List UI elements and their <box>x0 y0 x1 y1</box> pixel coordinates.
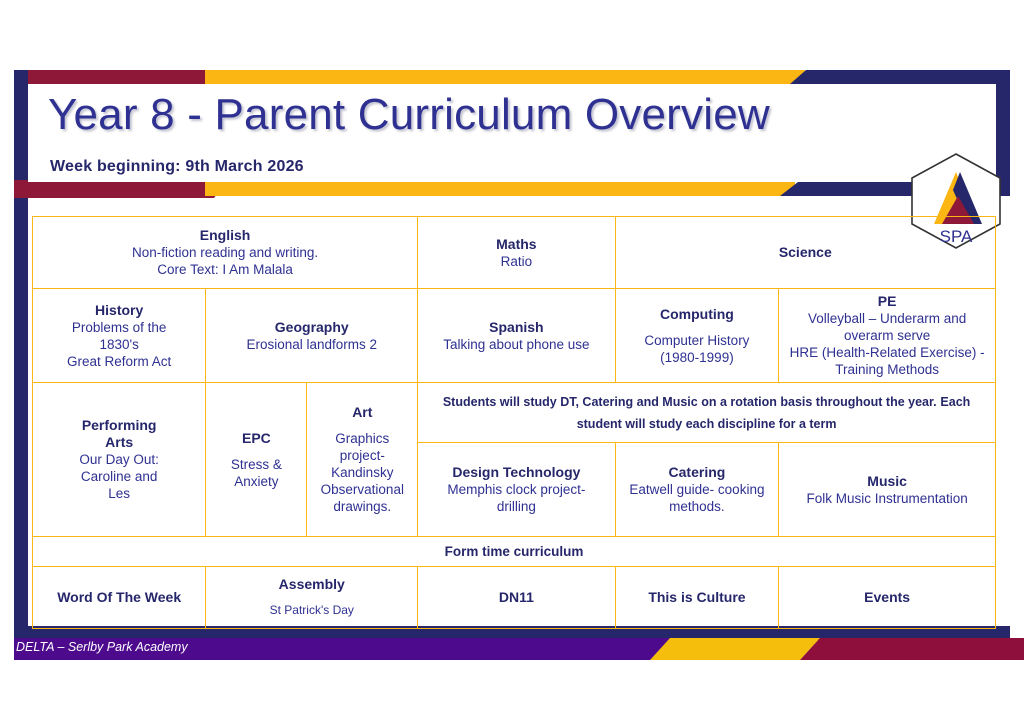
subject-title: Art <box>311 404 413 421</box>
subject-detail: Eatwell guide- cooking <box>620 481 775 498</box>
subject-title: This is Culture <box>620 589 775 606</box>
subject-detail: Core Text: I Am Malala <box>37 261 413 278</box>
cell-catering: Catering Eatwell guide- cooking methods. <box>615 443 779 537</box>
subject-detail: project- <box>311 447 413 464</box>
subject-detail: Training Methods <box>783 361 991 378</box>
curriculum-table: English Non-fiction reading and writing.… <box>32 216 996 629</box>
subject-detail: Talking about phone use <box>422 336 610 353</box>
subject-title: Events <box>783 589 991 606</box>
subject-detail: 1830's <box>37 336 201 353</box>
cell-dn11: DN11 <box>418 567 615 629</box>
subject-detail: Non-fiction reading and writing. <box>37 244 413 261</box>
subject-title: DN11 <box>422 589 610 606</box>
subject-detail: Our Day Out: <box>37 451 201 468</box>
subject-title: Spanish <box>422 319 610 336</box>
rotation-note-line-1: Students will study DT, Catering and Mus… <box>443 395 937 409</box>
cell-geography: Geography Erosional landforms 2 <box>206 289 418 383</box>
footer-yellow-band <box>650 638 820 660</box>
subject-detail: Problems of the <box>37 319 201 336</box>
subject-detail: drilling <box>422 498 610 515</box>
subject-title: Design Technology <box>422 464 610 481</box>
cell-form-time-header: Form time curriculum <box>33 537 996 567</box>
cell-rotation-note: Students will study DT, Catering and Mus… <box>418 383 996 443</box>
subject-title: Assembly <box>210 576 413 593</box>
spacer <box>210 447 302 456</box>
subject-detail: Great Reform Act <box>37 353 201 370</box>
cell-pe: PE Volleyball – Underarm and overarm ser… <box>779 289 996 383</box>
cell-epc: EPC Stress & Anxiety <box>206 383 307 537</box>
subject-title: EPC <box>210 430 302 447</box>
subject-detail: Ratio <box>422 253 610 270</box>
subject-detail: Stress & Anxiety <box>210 456 302 490</box>
form-time-label: Form time curriculum <box>445 544 584 559</box>
subject-title: Music <box>783 473 991 490</box>
curriculum-overview-page: Year 8 - Parent Curriculum Overview Week… <box>0 0 1024 724</box>
cell-music: Music Folk Music Instrumentation <box>779 443 996 537</box>
table-row: Performing Arts Our Day Out: Caroline an… <box>33 383 996 443</box>
spacer <box>311 421 413 430</box>
cell-events: Events <box>779 567 996 629</box>
subject-title: English <box>37 227 413 244</box>
subject-detail: Les <box>37 485 201 502</box>
frame-yellow-middle-bar <box>205 182 795 196</box>
cell-history: History Problems of the 1830's Great Ref… <box>33 289 206 383</box>
subject-detail: drawings. <box>311 498 413 515</box>
cell-computing: Computing Computer History (1980-1999) <box>615 289 779 383</box>
cell-design-technology: Design Technology Memphis clock project-… <box>418 443 615 537</box>
cell-english: English Non-fiction reading and writing.… <box>33 217 418 289</box>
week-beginning-label: Week beginning: 9th March 2026 <box>50 158 304 176</box>
subject-detail: Caroline and <box>37 468 201 485</box>
subject-detail: Folk Music Instrumentation <box>783 490 991 507</box>
subject-detail: overarm serve <box>783 327 991 344</box>
subject-detail: Volleyball – Underarm and <box>783 310 991 327</box>
subject-detail: Kandinsky <box>311 464 413 481</box>
subject-detail: Observational <box>311 481 413 498</box>
subject-title: Science <box>620 244 991 261</box>
subject-title: PE <box>783 293 991 310</box>
subject-detail: HRE (Health-Related Exercise) - <box>783 344 991 361</box>
cell-spanish: Spanish Talking about phone use <box>418 289 615 383</box>
footer-maroon-band <box>800 638 1024 660</box>
spacer <box>210 593 413 602</box>
footer-tagline: Changing Lives.... <box>448 640 548 654</box>
cell-assembly: Assembly St Patrick's Day <box>206 567 418 629</box>
frame-yellow-top-bar <box>205 70 805 84</box>
frame-navy-left-bar <box>14 70 28 640</box>
subject-detail: Graphics <box>311 430 413 447</box>
subject-title: Geography <box>210 319 413 336</box>
spacer <box>620 323 775 332</box>
subject-title: Maths <box>422 236 610 253</box>
subject-detail: methods. <box>620 498 775 515</box>
cell-science: Science <box>615 217 995 289</box>
subject-title: Computing <box>620 306 775 323</box>
cell-word-of-the-week: Word Of The Week <box>33 567 206 629</box>
frame-maroon-left-wedge <box>14 180 229 198</box>
footer-academy-name: DELTA – Serlby Park Academy <box>16 640 188 654</box>
cell-maths: Maths Ratio <box>418 217 615 289</box>
table-row: Word Of The Week Assembly St Patrick's D… <box>33 567 996 629</box>
subject-detail: Erosional landforms 2 <box>210 336 413 353</box>
cell-performing-arts: Performing Arts Our Day Out: Caroline an… <box>33 383 206 537</box>
table-row: Form time curriculum <box>33 537 996 567</box>
cell-this-is-culture: This is Culture <box>615 567 779 629</box>
subject-title: Catering <box>620 464 775 481</box>
page-title: Year 8 - Parent Curriculum Overview <box>48 88 770 142</box>
subject-detail: Memphis clock project- <box>422 481 610 498</box>
subject-detail: Computer History <box>620 332 775 349</box>
subject-detail: St Patrick's Day <box>210 602 413 619</box>
subject-title: Arts <box>37 434 201 451</box>
subject-title: History <box>37 302 201 319</box>
subject-title: Word Of The Week <box>37 589 201 606</box>
cell-art: Art Graphics project- Kandinsky Observat… <box>307 383 418 537</box>
subject-title: Performing <box>37 417 201 434</box>
frame-navy-top-right <box>790 70 1010 84</box>
table-row: History Problems of the 1830's Great Ref… <box>33 289 996 383</box>
subject-detail: (1980-1999) <box>620 349 775 366</box>
table-row: English Non-fiction reading and writing.… <box>33 217 996 289</box>
